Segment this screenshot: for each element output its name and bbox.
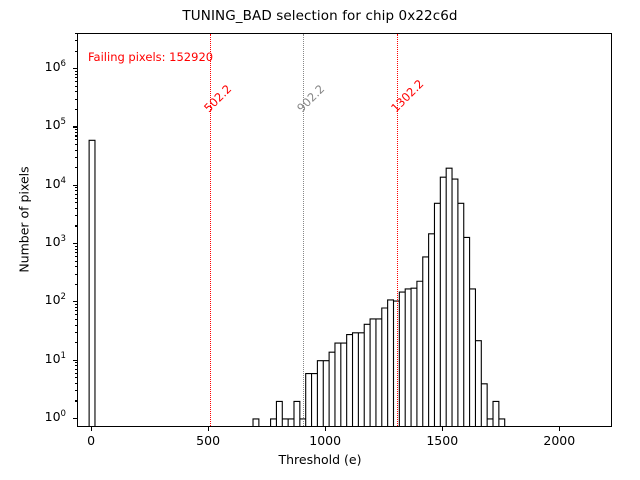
y-tick-label-1e4: 104 <box>2 176 66 191</box>
x-tick-500 <box>208 427 209 431</box>
plot-frame <box>77 33 612 427</box>
x-axis-label: Threshold (e) <box>0 452 640 467</box>
x-tick-2000 <box>559 427 560 431</box>
x-tick-label-500: 500 <box>178 433 238 448</box>
y-tick-label-1e5: 105 <box>2 117 66 132</box>
y-tick-label-1e0: 100 <box>2 409 66 424</box>
plot-area <box>78 34 611 426</box>
y-tick-label-1e2: 102 <box>2 292 66 307</box>
vline-high-threshold <box>397 34 398 426</box>
x-tick-label-2000: 2000 <box>529 433 589 448</box>
x-tick-label-0: 0 <box>61 433 121 448</box>
x-tick-0 <box>91 427 92 431</box>
x-tick-label-1000: 1000 <box>295 433 355 448</box>
histogram-figure: TUNING_BAD selection for chip 0x22c6d Nu… <box>0 0 640 480</box>
histogram-series <box>78 34 611 426</box>
y-tick-label-1e6: 106 <box>2 59 66 74</box>
y-tick-label-1e3: 103 <box>2 234 66 249</box>
x-tick-1500 <box>442 427 443 431</box>
x-tick-1000 <box>325 427 326 431</box>
x-tick-label-1500: 1500 <box>412 433 472 448</box>
page-title: TUNING_BAD selection for chip 0x22c6d <box>0 8 640 24</box>
y-tick-label-1e1: 101 <box>2 351 66 366</box>
failing-pixels-annotation: Failing pixels: 152920 <box>88 50 213 64</box>
vline-low-threshold <box>210 34 211 426</box>
histogram-step-line <box>89 140 505 426</box>
vline-target-threshold <box>303 34 304 426</box>
